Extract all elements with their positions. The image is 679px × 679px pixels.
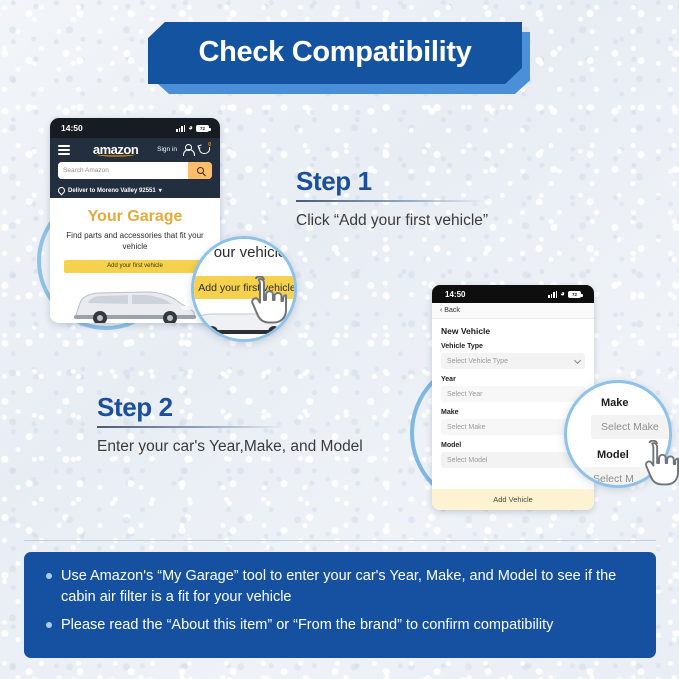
field-label-model: Model — [441, 442, 585, 449]
bullet-text: Please read the “About this item” or “Fr… — [61, 615, 553, 636]
garage-title: Your Garage — [59, 208, 211, 226]
step2-underline — [97, 426, 285, 428]
phone1-status-bar: 14:50 ◕ 72 — [50, 118, 220, 138]
deliver-to-text: Deliver to Moreno Valley 92551 — [68, 188, 156, 194]
bullet-dot-icon — [46, 622, 52, 628]
step2-block: Step 2 Enter your car's Year,Make, and M… — [97, 392, 407, 457]
bullet-dot-icon — [46, 573, 52, 579]
field-year[interactable]: Select Year — [441, 386, 585, 402]
phone2-status-bar: 14:50 ◕ 72 — [432, 285, 594, 303]
field-value-vehicle-type: Select Vehicle Type — [447, 358, 508, 365]
amazon-search-bar[interactable]: Search Amazon — [58, 162, 212, 179]
status-time: 14:50 — [445, 290, 465, 299]
step1-title: Step 1 — [296, 166, 656, 197]
step1-block: Step 1 Click “Add your first vehicle” — [296, 166, 656, 231]
bullet-item: Use Amazon's “My Garage” tool to enter y… — [46, 566, 638, 607]
location-pin-icon — [57, 186, 67, 196]
sign-in-link[interactable]: Sign in — [157, 146, 177, 153]
chevron-down-icon — [574, 356, 581, 363]
back-button[interactable]: ‹ Back — [432, 303, 594, 319]
magnified-make-value: Select Make — [601, 421, 659, 433]
field-label-make: Make — [441, 409, 585, 416]
suv-car-image — [68, 281, 200, 323]
field-label-year: Year — [441, 376, 585, 383]
search-button[interactable] — [188, 162, 212, 179]
step2-title: Step 2 — [97, 392, 407, 423]
pointing-hand-cursor-2 — [641, 440, 679, 488]
field-vehicle-type[interactable]: Select Vehicle Type — [441, 353, 585, 369]
form-title: New Vehicle — [441, 326, 585, 336]
signal-icon — [548, 291, 557, 298]
bullet-item: Please read the “About this item” or “Fr… — [46, 615, 638, 636]
add-vehicle-button[interactable]: Add Vehicle — [432, 489, 594, 510]
amazon-nav-bar: amazon Sign in 0 Search Amazon — [50, 138, 220, 184]
header-banner: Check Compatibility — [148, 22, 530, 94]
header-banner-main: Check Compatibility — [148, 22, 522, 84]
step1-underline — [296, 200, 486, 202]
field-value-model: Select Model — [447, 457, 487, 464]
hamburger-icon[interactable] — [58, 145, 70, 155]
section-divider — [24, 540, 656, 541]
magnified-model-label: Model — [597, 449, 629, 461]
search-icon — [197, 167, 204, 174]
signal-icon — [176, 125, 185, 132]
status-time: 14:50 — [61, 123, 83, 133]
battery-icon: 72 — [568, 291, 581, 298]
step1-description: Click “Add your first vehicle” — [296, 211, 656, 232]
amazon-logo[interactable]: amazon — [93, 142, 138, 157]
cart-icon[interactable]: 0 — [198, 143, 212, 156]
cart-count: 0 — [208, 142, 211, 148]
wifi-icon: ◕ — [560, 290, 565, 298]
page-title: Check Compatibility — [198, 38, 471, 67]
chevron-down-icon: ▾ — [159, 187, 162, 194]
person-icon[interactable] — [182, 144, 193, 156]
magnified-make-field[interactable]: Select Make — [591, 415, 672, 439]
field-label-vehicle-type: Vehicle Type — [441, 343, 585, 350]
search-input[interactable]: Search Amazon — [58, 162, 188, 179]
field-value-year: Select Year — [447, 391, 482, 398]
field-model[interactable]: Select Model — [441, 452, 585, 468]
garage-subtitle: Find parts and accessories that fit your… — [59, 231, 211, 253]
field-value-make: Select Make — [447, 424, 486, 431]
info-box: Use Amazon's “My Garage” tool to enter y… — [24, 552, 656, 658]
phone-mockup-new-vehicle: 14:50 ◕ 72 ‹ Back New Vehicle Vehicle Ty… — [432, 285, 594, 510]
magnified-model-value: Select M — [593, 473, 634, 485]
deliver-to-bar[interactable]: Deliver to Moreno Valley 92551 ▾ — [50, 184, 220, 198]
bullet-text: Use Amazon's “My Garage” tool to enter y… — [61, 566, 638, 607]
step2-description: Enter your car's Year,Make, and Model — [97, 437, 407, 458]
magnifier1-top-text: our vehicle — [191, 244, 297, 261]
wifi-icon: ◕ — [188, 124, 193, 132]
pointing-hand-cursor-1 — [247, 276, 287, 326]
add-first-vehicle-button[interactable]: Add your first vehicle — [64, 260, 206, 273]
magnified-make-label: Make — [601, 397, 629, 409]
battery-icon: 72 — [196, 125, 209, 132]
